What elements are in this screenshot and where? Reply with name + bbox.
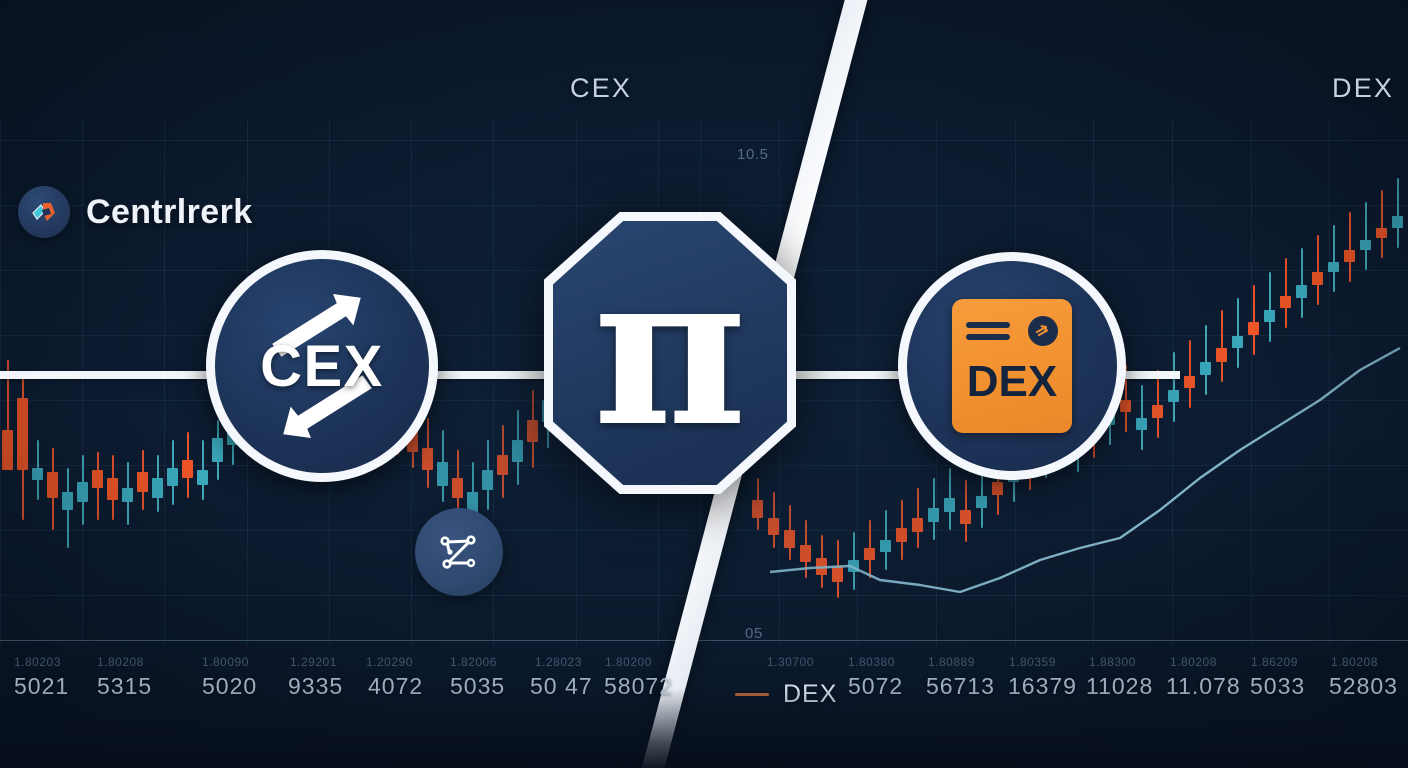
x-tick-lower: 58072 [604, 673, 673, 700]
candlestick [47, 0, 58, 768]
node-cex[interactable]: CEX [206, 250, 438, 482]
candlestick [482, 0, 493, 768]
left-axis-line [0, 640, 700, 641]
candlestick [1280, 0, 1291, 768]
brand-lockup: Centrlrerk [18, 186, 253, 238]
x-tick-lower: 52803 [1329, 673, 1398, 700]
x-tick-lower: 56713 [926, 673, 995, 700]
dex-card-icon: DEX [952, 299, 1072, 433]
swap-arrow-circle-icon [1028, 316, 1058, 346]
candlestick [497, 0, 508, 768]
candlestick [1360, 0, 1371, 768]
candlestick [77, 0, 88, 768]
x-tick-upper: 1.28023 [535, 655, 582, 669]
dex-card-line-1 [966, 322, 1010, 328]
candlestick [62, 0, 73, 768]
comparison-infographic: Centrlrerk CEX DEX CEX π [0, 0, 1408, 768]
x-tick-lower: 5021 [14, 673, 69, 700]
x-tick-lower: 11028 [1086, 673, 1153, 700]
x-tick-lower: 50 47 [530, 673, 593, 700]
node-pi-badge[interactable]: π [544, 212, 796, 494]
candlestick [512, 0, 523, 768]
x-tick-upper: 1.82006 [450, 655, 497, 669]
x-tick-upper: 1.80380 [848, 655, 895, 669]
node-cex-label: CEX [260, 333, 384, 400]
y-tick-label: 05 [745, 625, 763, 642]
candlestick [197, 0, 208, 768]
section-title-cex: CEX [570, 73, 632, 104]
candlestick [92, 0, 103, 768]
candlestick [848, 0, 859, 768]
node-dex-label: DEX [952, 357, 1072, 407]
candlestick [107, 0, 118, 768]
x-tick-lower: 5020 [202, 673, 257, 700]
x-tick-lower: 5035 [450, 673, 505, 700]
candlestick [1152, 0, 1163, 768]
x-tick-upper: 1.86209 [1251, 655, 1298, 669]
candlestick [1328, 0, 1339, 768]
candlestick [864, 0, 875, 768]
candlestick [122, 0, 133, 768]
candlestick [167, 0, 178, 768]
pi-symbol-icon: π [593, 268, 747, 432]
section-title-dex: DEX [1332, 73, 1394, 104]
y-tick-label: 10.5 [737, 146, 769, 163]
x-tick-lower: 5033 [1250, 673, 1305, 700]
x-tick-upper: 1.80208 [97, 655, 144, 669]
legend-swatch-dex [735, 693, 769, 696]
pi-network-logo-icon [18, 186, 70, 238]
candlestick [1344, 0, 1355, 768]
x-tick-upper: 1.20290 [366, 655, 413, 669]
candlestick [1232, 0, 1243, 768]
brand-name: Centrlrerk [86, 193, 253, 232]
gridline-vertical [0, 120, 1, 645]
x-tick-upper: 1.80203 [14, 655, 61, 669]
x-tick-upper: 1.80200 [605, 655, 652, 669]
x-tick-upper: 1.80208 [1331, 655, 1378, 669]
candlestick [1248, 0, 1259, 768]
x-tick-upper: 1.80889 [928, 655, 975, 669]
legend-dex: DEX [735, 680, 837, 709]
x-tick-lower: 11.078 [1166, 673, 1241, 700]
candlestick [527, 0, 538, 768]
candlestick [1376, 0, 1387, 768]
x-tick-upper: 1.29201 [290, 655, 337, 669]
candlestick [1264, 0, 1275, 768]
x-tick-upper: 1.80090 [202, 655, 249, 669]
legend-label-dex: DEX [783, 680, 837, 709]
x-tick-lower: 9335 [288, 673, 343, 700]
candlestick [437, 0, 448, 768]
x-tick-lower: 4072 [368, 673, 423, 700]
right-axis-line [700, 640, 1408, 641]
candlestick [1184, 0, 1195, 768]
x-tick-lower: 16379 [1008, 673, 1077, 700]
x-tick-lower: 5072 [848, 673, 903, 700]
candlestick [17, 0, 28, 768]
candlestick [1312, 0, 1323, 768]
candlestick [32, 0, 43, 768]
candlestick [2, 0, 13, 768]
candlestick [182, 0, 193, 768]
node-dex[interactable]: DEX [898, 252, 1126, 480]
candlestick [137, 0, 148, 768]
x-tick-upper: 1.80208 [1170, 655, 1217, 669]
candlestick [1168, 0, 1179, 768]
candlestick [1392, 0, 1403, 768]
candlestick [1200, 0, 1211, 768]
network-nodes-icon[interactable] [415, 508, 503, 596]
x-tick-upper: 1.88300 [1089, 655, 1136, 669]
x-tick-upper: 1.30700 [767, 655, 814, 669]
candlestick [152, 0, 163, 768]
candlestick [452, 0, 463, 768]
candlestick [1296, 0, 1307, 768]
candlestick [1136, 0, 1147, 768]
candlestick [1216, 0, 1227, 768]
x-tick-lower: 5315 [97, 673, 152, 700]
candlestick [467, 0, 478, 768]
candlestick [800, 0, 811, 768]
x-tick-upper: 1.80359 [1009, 655, 1056, 669]
dex-card-line-2 [966, 334, 1010, 340]
candlestick [880, 0, 891, 768]
